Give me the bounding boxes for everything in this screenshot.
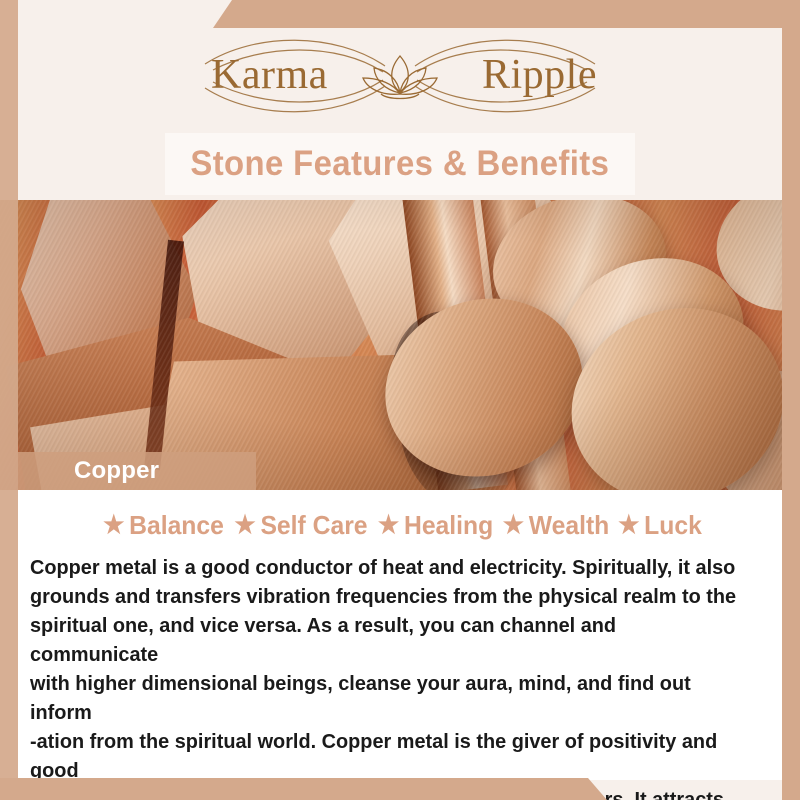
benefit-item: ★ Healing: [374, 510, 493, 541]
benefit-item: ★ Wealth: [499, 510, 609, 541]
frame-left-bar: [0, 0, 18, 800]
star-icon: ★: [618, 513, 639, 538]
frame-right-bar: [782, 0, 800, 800]
benefit-item: ★ Balance: [99, 510, 224, 541]
description-line: -ation from the spiritual world. Copper …: [30, 727, 744, 785]
benefit-item: ★ Luck: [615, 510, 703, 541]
star-icon: ★: [234, 513, 255, 538]
page-title: Stone Features & Benefits: [191, 144, 610, 184]
brand-name-right: Ripple: [482, 54, 597, 96]
brand-name-left: Karma: [211, 54, 328, 96]
description-line: spiritual one, and vice versa. As a resu…: [30, 611, 744, 669]
benefits-list: ★ Balance ★ Self Care ★ Healing ★ Wealth…: [18, 510, 782, 541]
benefit-label: Self Care: [260, 510, 367, 541]
benefit-label: Balance: [129, 510, 224, 541]
photo-caption-bar: Copper: [18, 452, 256, 490]
description-line: Copper metal is a good conductor of heat…: [30, 553, 744, 582]
brand-logo: Karma Ripple: [0, 22, 800, 130]
description-line: grounds and transfers vibration frequenc…: [30, 582, 744, 611]
star-icon: ★: [103, 513, 124, 538]
benefit-label: Healing: [404, 510, 493, 541]
content-panel: ★ Balance ★ Self Care ★ Healing ★ Wealth…: [18, 490, 782, 780]
infographic-page: Karma Ripple Stone Features & Benefits C…: [0, 0, 800, 800]
photo-caption-label: Copper: [74, 457, 159, 485]
copper-bars-photo: [0, 200, 800, 490]
benefit-label: Luck: [645, 510, 703, 541]
benefit-label: Wealth: [529, 510, 610, 541]
page-title-panel: Stone Features & Benefits: [165, 133, 635, 195]
star-icon: ★: [503, 513, 524, 538]
star-icon: ★: [378, 513, 399, 538]
description-text: Copper metal is a good conductor of heat…: [30, 553, 744, 800]
benefit-item: ★ Self Care: [230, 510, 367, 541]
description-line: with higher dimensional beings, cleanse …: [30, 669, 744, 727]
